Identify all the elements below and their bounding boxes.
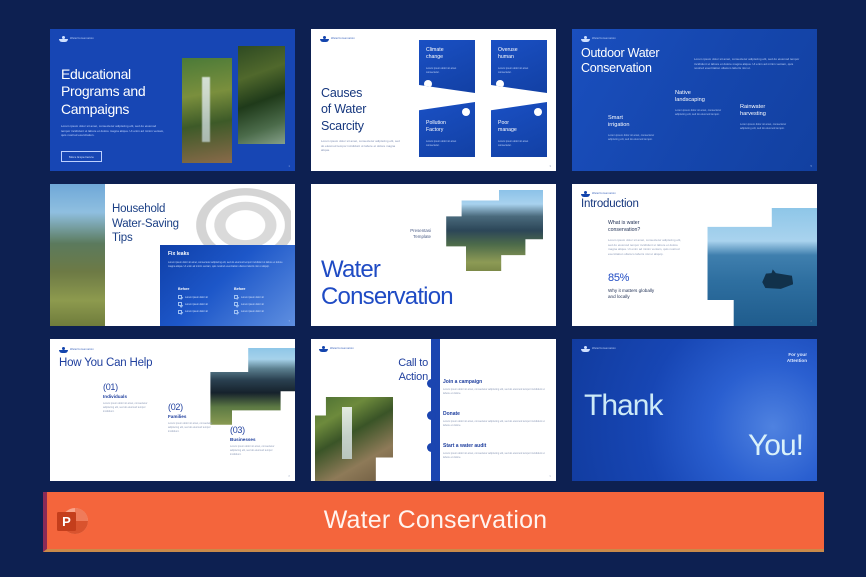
cause-card-title: Overuse human: [498, 47, 518, 61]
more-experience-button[interactable]: More Experience: [61, 151, 102, 162]
slide-title-line2: Conservation: [581, 61, 652, 75]
help-step: (02) Families Lorem ipsum dolor sit amet…: [168, 402, 220, 434]
cause-card-text: Lorem ipsum dolor sit amet consectetur.: [498, 140, 538, 148]
cause-card-title: Poor manage: [498, 120, 517, 134]
checkbox-icon: [178, 295, 182, 299]
stat-caption-line1: Why it matters globally: [608, 288, 654, 293]
waterfall-photo: [182, 58, 232, 163]
cause-card-title-line1: Climate: [426, 47, 444, 53]
banner-title: Water Conservation: [89, 506, 782, 535]
page-number: 9: [549, 474, 551, 478]
slide-title-line1: Call to: [398, 357, 428, 369]
checkbox-icon: [234, 310, 238, 314]
checkbox-icon: [234, 302, 238, 306]
water-drop-logo-icon: [320, 36, 329, 42]
cause-card-title-line2: human: [498, 54, 514, 60]
checkbox-icon: [178, 302, 182, 306]
screenshot-stage: WaterConservation Educational Programs a…: [0, 0, 866, 577]
cause-card-text: Lorem ipsum dolor sit amet consectetur.: [426, 140, 466, 148]
question-heading: What is water conservation?: [608, 220, 686, 234]
help-step: (03) Businesses Lorem ipsum dolor sit am…: [230, 425, 282, 457]
action-item[interactable]: Join a campaign Lorem ipsum dolor sit am…: [443, 379, 545, 396]
slide-title-line2: Conservation: [321, 283, 453, 310]
cause-card[interactable]: Climate change Lorem ipsum dolor sit ame…: [419, 40, 475, 93]
eyebrow-text: Presentasi Template: [391, 228, 431, 241]
heading-line2: harvesting: [740, 111, 766, 117]
slide-title-line2: of Water: [321, 102, 366, 116]
conservation-column-text: Lorem ipsum dolor sit amet, consectetur …: [675, 109, 727, 117]
fix-leaks-panel: Fix leaks Lorem ipsum dolor sit amet, co…: [160, 245, 295, 326]
action-item-heading: Join a campaign: [443, 379, 545, 385]
slide-body-text: Lorem ipsum dolor sit amet, consectetur …: [608, 238, 686, 256]
help-step-text: Lorem ipsum dolor sit amet, consectetur …: [230, 445, 282, 457]
cause-card[interactable]: Overuse human Lorem ipsum dolor sit amet…: [491, 40, 547, 93]
heading-line1: Smart: [608, 115, 623, 121]
help-step-heading: Individuals: [103, 394, 155, 399]
slide-title-line1: Educational: [61, 66, 131, 82]
list-item: Lorem ipsum dolor sit: [234, 302, 264, 306]
conservation-column-text: Lorem ipsum dolor sit amet, consectetur …: [608, 134, 660, 142]
action-item[interactable]: Donate Lorem ipsum dolor sit amet, conse…: [443, 411, 545, 428]
bullet-dot-icon: [427, 379, 436, 388]
brand-logo-text: WaterConservation: [331, 38, 355, 41]
help-step-text: Lorem ipsum dolor sit amet, consectetur …: [168, 422, 220, 434]
list-item: Lorem ipsum dolor sit: [178, 310, 208, 314]
brand-logo: WaterConservation: [581, 36, 616, 42]
list-item-label: Lorem ipsum dolor sit: [241, 296, 264, 299]
cause-card-title-line2: Factory: [426, 127, 443, 133]
slide-title-line2: Programs and: [61, 83, 145, 99]
stat-value: 85%: [608, 272, 629, 284]
list-item-label: Lorem ipsum dolor sit: [241, 303, 264, 306]
checkbox-icon: [234, 295, 238, 299]
slide-body-text: Lorem ipsum dolor sit amet, consectetur …: [61, 124, 165, 138]
cause-card[interactable]: Poor manage Lorem ipsum dolor sit amet c…: [491, 102, 547, 157]
help-step-text: Lorem ipsum dolor sit amet, consectetur …: [103, 402, 155, 414]
mountain-lake-photo: [50, 184, 105, 326]
powerpoint-icon: P: [55, 504, 89, 538]
help-step-number: (02): [168, 402, 220, 412]
brand-logo: WaterConservation: [59, 36, 94, 42]
slide-title: Introduction: [581, 198, 639, 210]
heading-line1: Native: [675, 90, 691, 96]
brand-logo-text: WaterConservation: [592, 348, 616, 351]
cause-card-title-line1: Overuse: [498, 47, 518, 53]
water-drop-logo-icon: [581, 191, 590, 197]
slide-title: Call to Action: [366, 356, 428, 384]
for-your-attention-line1: For your: [788, 352, 807, 357]
before-column-heading: Before: [178, 287, 189, 291]
brand-logo-text: WaterConservation: [70, 38, 94, 41]
before-column-list: Lorem ipsum dolor sit Lorem ipsum dolor …: [178, 295, 208, 314]
cause-card-title-line1: Pollution: [426, 120, 446, 126]
boat-ocean-photo: [698, 208, 817, 326]
stat-caption: Why it matters globally and locally: [608, 288, 690, 301]
cause-card-title: Climate change: [426, 47, 444, 61]
heading-line2: irrigation: [608, 122, 629, 128]
list-item-label: Lorem ipsum dolor sit: [185, 310, 208, 313]
page-number: 3: [549, 164, 551, 168]
page-number: 7: [288, 319, 290, 323]
cause-card-text: Lorem ipsum dolor sit amet consectetur.: [498, 67, 538, 75]
conservation-column-heading: Rainwater harvesting: [740, 104, 792, 119]
slide-call-to-action[interactable]: WaterConservation Call to Action Join a …: [311, 339, 556, 481]
slide-title-line1: Household: [112, 203, 165, 215]
brand-logo: WaterConservation: [319, 346, 354, 352]
action-item-heading: Start a water audit: [443, 443, 545, 449]
page-number: 2: [810, 319, 812, 323]
bullet-dot-icon: [496, 80, 504, 88]
stat-caption-line2: and locally: [608, 294, 630, 299]
brand-logo: WaterConservation: [59, 347, 94, 353]
slide-title-line3: Campaigns: [61, 101, 129, 117]
list-item: Lorem ipsum dolor sit: [178, 295, 208, 299]
slide-title: Causes of Water Scarcity: [321, 85, 426, 134]
list-item: Lorem ipsum dolor sit: [178, 302, 208, 306]
water-drop-logo-icon: [59, 36, 68, 42]
cause-card[interactable]: Pollution Factory Lorem ipsum dolor sit …: [419, 102, 475, 157]
question-line1: What is water: [608, 220, 639, 226]
brand-logo: WaterConservation: [320, 36, 355, 42]
slide-title: Household Water-Saving Tips: [112, 202, 232, 246]
conservation-column-heading: Smart irrigation: [608, 115, 660, 130]
action-item[interactable]: Start a water audit Lorem ipsum dolor si…: [443, 443, 545, 460]
cause-card-text: Lorem ipsum dolor sit amet consectetur.: [426, 67, 466, 75]
slide-thumbnail-grid: WaterConservation Educational Programs a…: [50, 29, 817, 483]
list-item-label: Lorem ipsum dolor sit: [185, 303, 208, 306]
help-step-heading: Families: [168, 414, 220, 419]
eyebrow-line1: Presentasi: [410, 228, 431, 233]
slide-title-line2: Action: [399, 371, 428, 383]
bullet-dot-icon: [534, 108, 542, 116]
page-number: 8: [288, 474, 290, 478]
heading-line1: Rainwater: [740, 104, 765, 110]
panel-heading: Fix leaks: [168, 251, 189, 257]
before-column-heading: Before: [234, 287, 245, 291]
slide-title-water-conservation[interactable]: Presentasi Template Water Conservation: [311, 184, 556, 326]
help-step: (01) Individuals Lorem ipsum dolor sit a…: [103, 382, 155, 414]
conservation-column: Rainwater harvesting Lorem ipsum dolor s…: [740, 104, 792, 131]
question-line2: conservation?: [608, 227, 640, 233]
slide-outdoor-water-conservation[interactable]: WaterConservation Outdoor Water Conserva…: [572, 29, 817, 171]
slide-title: Water Conservation: [321, 256, 546, 311]
help-step-number: (03): [230, 425, 282, 435]
cause-card-title-line1: Poor: [498, 120, 509, 126]
slide-title-line1: Water: [321, 256, 380, 283]
action-item-heading: Donate: [443, 411, 545, 417]
slide-household-water-saving-tips[interactable]: Household Water-Saving Tips Fix leaks Lo…: [50, 184, 295, 326]
thank-you-line1: Thank: [584, 391, 662, 421]
thank-you-line2: You!: [748, 431, 803, 461]
slide-title-line1: Outdoor Water: [581, 46, 659, 60]
list-item-label: Lorem ipsum dolor sit: [185, 296, 208, 299]
list-item: Lorem ipsum dolor sit: [234, 295, 264, 299]
water-drop-logo-icon: [581, 36, 590, 42]
bullet-dot-icon: [427, 411, 436, 420]
for-your-attention-line2: Attention: [787, 358, 807, 363]
action-item-text: Lorem ipsum dolor sit amet, consectetur …: [443, 420, 545, 428]
cause-card-title: Pollution Factory: [426, 120, 446, 134]
slide-title-line1: Causes: [321, 86, 362, 100]
conservation-column-text: Lorem ipsum dolor sit amet, consectetur …: [740, 123, 792, 131]
slide-how-you-can-help[interactable]: WaterConservation How You Can Help (01) …: [50, 339, 295, 481]
water-drop-logo-icon: [581, 346, 590, 352]
slide-title-line3: Scarcity: [321, 119, 364, 133]
waterfall-photo: [315, 397, 393, 481]
file-banner[interactable]: P Water Conservation: [43, 492, 824, 552]
action-item-text: Lorem ipsum dolor sit amet, consectetur …: [443, 452, 545, 460]
list-item: Lorem ipsum dolor sit: [234, 310, 264, 314]
bullet-dot-icon: [427, 443, 436, 452]
panel-text: Lorem ipsum dolor sit amet, consectetur …: [168, 261, 286, 269]
brand-logo: WaterConservation: [581, 346, 616, 352]
conservation-column: Smart irrigation Lorem ipsum dolor sit a…: [608, 115, 660, 142]
brand-logo-text: WaterConservation: [70, 349, 94, 352]
forest-pond-photo: [238, 46, 285, 144]
water-drop-logo-icon: [319, 346, 328, 352]
list-item-label: Lorem ipsum dolor sit: [241, 310, 264, 313]
brand-logo-text: WaterConservation: [592, 193, 616, 196]
slide-title: Educational Programs and Campaigns: [61, 66, 181, 118]
bullet-dot-icon: [462, 108, 470, 116]
slide-causes-of-water-scarcity[interactable]: WaterConservation Causes of Water Scarci…: [311, 29, 556, 171]
brand-logo: WaterConservation: [581, 191, 616, 197]
slide-title: How You Can Help: [59, 357, 152, 369]
powerpoint-icon-quadrant: [75, 521, 88, 534]
checkbox-icon: [178, 310, 182, 314]
slide-thank-you[interactable]: WaterConservation For your Attention Tha…: [572, 339, 817, 481]
page-number: 5: [810, 164, 812, 168]
powerpoint-icon-quadrant: [75, 508, 88, 521]
before-column-list: Lorem ipsum dolor sit Lorem ipsum dolor …: [234, 295, 264, 314]
slide-title-line3: Tips: [112, 232, 133, 244]
for-your-attention-text: For your Attention: [787, 352, 807, 365]
cause-card-title-line2: manage: [498, 127, 517, 133]
help-step-number: (01): [103, 382, 155, 392]
vertical-divider: [431, 339, 440, 481]
slide-title-line2: Water-Saving: [112, 218, 179, 230]
cause-card-title-line2: change: [426, 54, 443, 60]
slide-body-text: Lorem ipsum dolor sit amet, consectetur …: [321, 139, 403, 153]
eyebrow-line2: Template: [413, 234, 431, 239]
conservation-column: Native landscaping Lorem ipsum dolor sit…: [675, 90, 727, 117]
slide-intro-text: Lorem ipsum dolor sit amet, consectetur …: [694, 57, 804, 71]
water-drop-logo-icon: [59, 347, 68, 353]
conservation-column-heading: Native landscaping: [675, 90, 727, 105]
heading-line2: landscaping: [675, 97, 705, 103]
slide-title: Outdoor Water Conservation: [581, 46, 711, 77]
action-item-text: Lorem ipsum dolor sit amet, consectetur …: [443, 388, 545, 396]
slide-educational-programs[interactable]: WaterConservation Educational Programs a…: [50, 29, 295, 171]
powerpoint-icon-letter: P: [57, 512, 76, 531]
slide-introduction[interactable]: WaterConservation Introduction What is w…: [572, 184, 817, 326]
page-number: 1: [288, 164, 290, 168]
brand-logo-text: WaterConservation: [592, 38, 616, 41]
brand-logo-text: WaterConservation: [330, 348, 354, 351]
help-step-heading: Businesses: [230, 437, 282, 442]
